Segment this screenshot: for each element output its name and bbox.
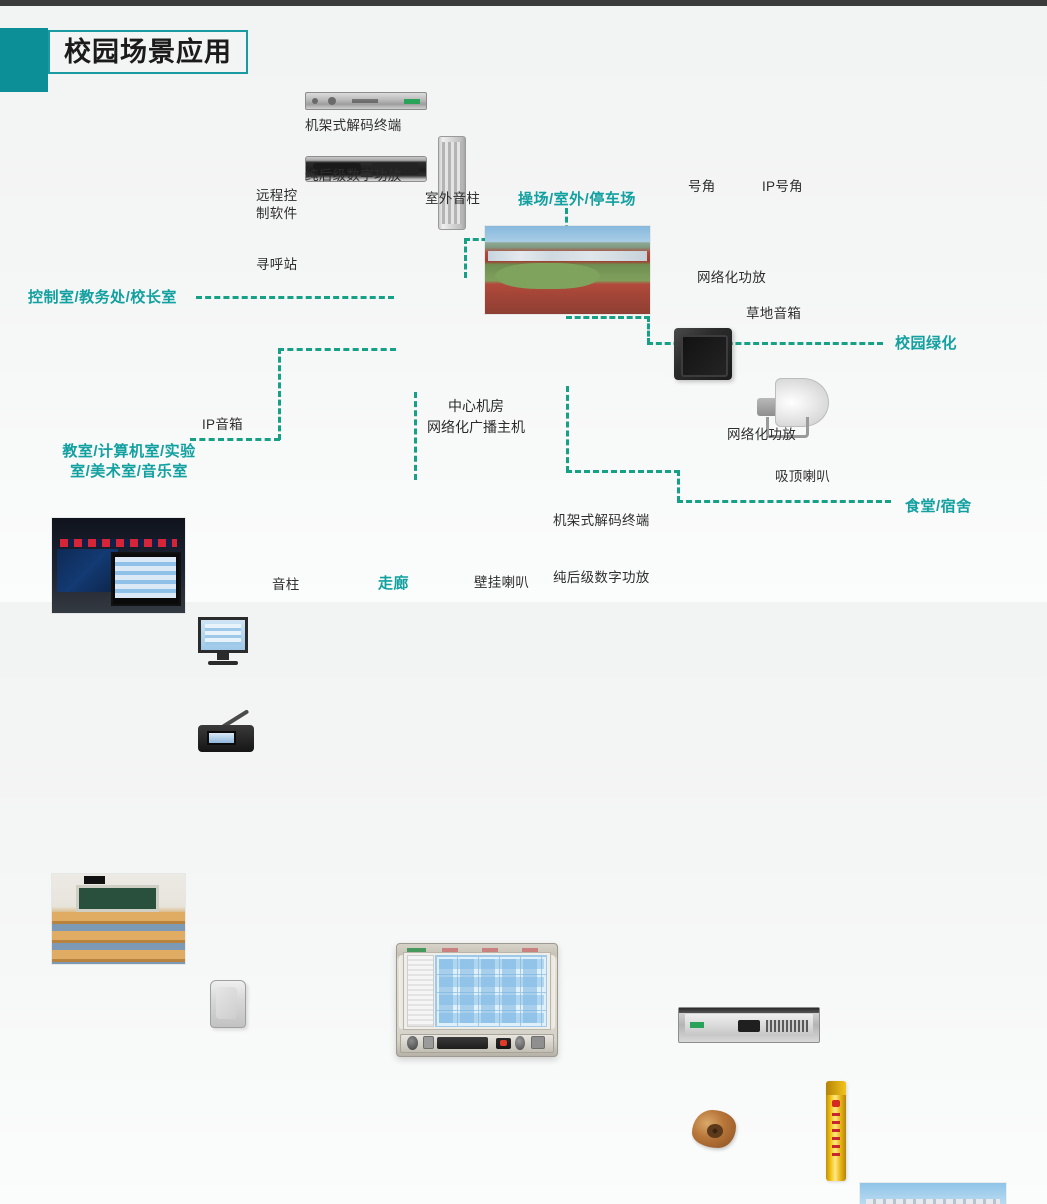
- host-console-device: [396, 943, 558, 1057]
- host-emergency-button[interactable]: [496, 1038, 510, 1049]
- network-amp-label-canteen: 网络化功放: [727, 426, 796, 444]
- connector-classroom-h1: [190, 438, 280, 441]
- remote-control-software-device: [198, 617, 248, 665]
- connector-canteen-h2: [677, 500, 891, 503]
- diagram-canvas: 校园场景应用 机架式解码终端 纯后级数字功放 室外音柱 操场/室外/停车场 号角: [0, 0, 1047, 602]
- page-title: 校园场景应用: [64, 39, 232, 66]
- network-amp-label-green: 网络化功放: [697, 269, 766, 287]
- zone-label-classroom: 教室/计算机室/实验 室/美术室/音乐室: [44, 442, 214, 481]
- connector-campus-h1: [566, 316, 650, 319]
- paging-screen: [207, 731, 236, 745]
- page-title-box: 校园场景应用: [48, 30, 248, 74]
- zone-classroom-line2: 室/美术室/音乐室: [70, 463, 188, 480]
- connector-classroom-h2: [278, 348, 396, 351]
- zone-label-playground: 操场/室外/停车场: [518, 190, 636, 210]
- zone-label-control-room: 控制室/教务处/校长室: [28, 288, 177, 308]
- top-dark-bar: [0, 0, 1047, 6]
- host-header-text: [442, 948, 544, 951]
- host-channel-grid[interactable]: [435, 955, 547, 1027]
- host-volume-knob[interactable]: [515, 1036, 525, 1049]
- monitor-stand: [217, 653, 229, 661]
- zone-label-campus-green: 校园绿化: [895, 334, 957, 354]
- host-side-panel-list: [407, 955, 434, 1027]
- monitor-base: [208, 661, 238, 665]
- ceiling-speaker-label: 吸顶喇叭: [775, 468, 830, 486]
- connector-playground-v1: [464, 238, 467, 278]
- host-logo: [407, 948, 426, 952]
- ip-speaker-device: [210, 980, 246, 1028]
- paging-station-label: 寻呼站: [256, 256, 297, 274]
- network-amp-device-green: [678, 1007, 820, 1043]
- title-accent-square: [0, 28, 48, 92]
- connector-canteen-h1: [566, 470, 680, 473]
- classroom-photo: [52, 874, 185, 964]
- connector-classroom-v: [278, 348, 281, 440]
- host-port-left: [423, 1036, 435, 1049]
- center-host-label: 中心机房 网络化广播主机: [396, 396, 556, 438]
- lawn-speaker-device: [692, 1110, 736, 1148]
- paging-station-device: [198, 706, 254, 752]
- center-label-line2: 网络化广播主机: [427, 419, 525, 435]
- zone-label-canteen: 食堂/宿舍: [905, 497, 972, 517]
- horn-speaker-device: [674, 328, 732, 380]
- connector-campus-v: [647, 316, 650, 344]
- center-label-line1: 中心机房: [448, 398, 504, 414]
- horn-speaker-label: 号角: [688, 178, 716, 196]
- host-port-right: [531, 1036, 544, 1049]
- zone-classroom-line1: 教室/计算机室/实验: [62, 443, 195, 460]
- emergency-pillar-device: [826, 1081, 846, 1181]
- connector-control-room: [196, 296, 394, 299]
- remote-control-software-label: 远程控 制软件: [256, 187, 316, 223]
- rack-decoder-label-bottom: 机架式解码终端: [553, 512, 650, 530]
- rack-decoder-device-top: [305, 92, 427, 110]
- connector-canteen-v1: [566, 386, 569, 472]
- zone-label-corridor: 走廊: [378, 574, 409, 594]
- control-room-photo: [52, 518, 185, 613]
- outdoor-column-speaker-label: 室外音柱: [425, 190, 480, 208]
- campus-lawn-photo: [860, 1183, 1006, 1204]
- pure-power-amp-label-bottom: 纯后级数字功放: [553, 569, 650, 587]
- remote-software-line1: 远程控: [256, 188, 297, 203]
- wall-speaker-label: 壁挂喇叭: [474, 574, 529, 592]
- column-speaker-label: 音柱: [272, 576, 300, 594]
- host-disc-drive[interactable]: [437, 1037, 488, 1049]
- ip-speaker-label: IP音箱: [202, 416, 243, 434]
- lawn-speaker-label: 草地音箱: [746, 305, 801, 323]
- remote-software-line2: 制软件: [256, 206, 297, 221]
- outdoor-column-speaker-device: [438, 136, 466, 230]
- monitor-screen: [198, 617, 248, 653]
- ip-horn-speaker-label: IP号角: [762, 178, 803, 196]
- sports-track-photo: [485, 226, 650, 314]
- connector-canteen-v2: [677, 470, 680, 502]
- rack-decoder-label-top: 机架式解码终端: [305, 117, 402, 135]
- pure-power-amp-label-top: 纯后级数字功放: [305, 167, 402, 185]
- host-power-knob[interactable]: [407, 1036, 418, 1051]
